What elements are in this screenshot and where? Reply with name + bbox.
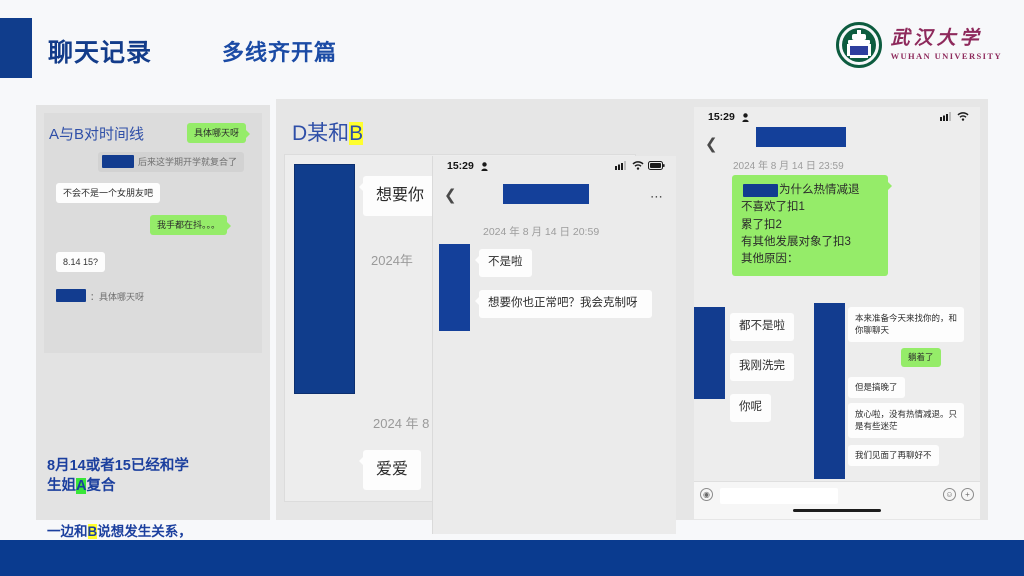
- redaction-block: [694, 307, 725, 399]
- page-title: 聊天记录: [48, 33, 152, 69]
- redaction-block: [439, 244, 470, 331]
- person-icon: [481, 162, 488, 171]
- green-msg-line-4: 有其他发展对象了扣3: [741, 236, 851, 248]
- emoji-icon[interactable]: ☺: [943, 488, 956, 501]
- chat-timestamp: 2024年: [371, 250, 413, 269]
- voice-record-icon[interactable]: ◉: [700, 488, 713, 501]
- message-text: 后来这学期开学就复合了: [138, 157, 237, 167]
- wifi-icon: [957, 112, 969, 121]
- status-time: 15:29: [708, 111, 735, 123]
- chat-input-bar: ◉ ☺ +: [694, 481, 980, 519]
- header-accent-mark: [0, 18, 32, 78]
- message-bubble: 8.14 15?: [56, 252, 105, 272]
- note-line-2-pre: 生姐: [47, 478, 76, 494]
- right-panel: D某和B 想要你 2024年 2024 年 8 月 14 日 20:15 爱爱 …: [276, 99, 988, 520]
- redaction-block: [56, 289, 86, 302]
- note-line-1: 8月14或者15已经和学: [47, 458, 189, 474]
- status-icons: [615, 161, 665, 170]
- green-msg-line-5: 其他原因：: [741, 253, 799, 265]
- footer-bar: [0, 540, 1024, 576]
- highlight-B-1: B: [88, 524, 98, 539]
- redaction-block: [294, 164, 355, 394]
- message-bubble: 我刚洗完: [730, 353, 794, 381]
- highlight-A: A: [76, 478, 86, 494]
- message-bubble: 想要你: [363, 176, 437, 216]
- redaction-block: [503, 184, 589, 204]
- message-bubble: 具体哪天呀: [187, 123, 246, 143]
- message-bubble: 不是啦: [479, 249, 532, 277]
- chat-timestamp: 2024 年 8 月 14 日 20:59: [483, 224, 599, 239]
- status-bar: 15:29: [433, 156, 676, 178]
- home-indicator: [793, 509, 881, 512]
- note2-l1-pre: 一边和: [47, 524, 88, 539]
- logo-name-cn: 武汉大学: [891, 29, 983, 49]
- message-bubble: 我们见面了再聊好不: [848, 445, 939, 466]
- right-panel-title: D某和B: [292, 117, 363, 147]
- green-msg-line-3: 累了扣2: [741, 219, 782, 231]
- redaction-block: [756, 127, 846, 147]
- highlight-B-title: B: [349, 122, 363, 145]
- logo-name-en: WUHAN UNIVERSITY: [891, 51, 1002, 61]
- slide-root: 聊天记录 多线齐开篇 武汉大学 WUHAN UNIVERSITY A与B对时间线…: [0, 0, 1024, 576]
- note-line-2-post: 复合: [86, 478, 115, 494]
- message-bubble: 爱爱: [363, 450, 421, 490]
- left-panel: A与B对时间线 具体哪天呀 后来这学期开学就复合了 不会不是一个女朋友吧 我手都…: [36, 105, 270, 520]
- person-icon: [742, 113, 749, 122]
- message-bubble: 本来准备今天来找你的，和你聊聊天: [848, 307, 964, 342]
- status-time: 15:29: [447, 160, 474, 172]
- more-options-icon[interactable]: ⋯: [650, 189, 664, 205]
- plus-icon[interactable]: +: [961, 488, 974, 501]
- phone-screenshot-b: 15:29: [432, 156, 676, 534]
- message-bubble: 你呢: [730, 394, 771, 422]
- message-bubble: 不会不是一个女朋友吧: [56, 183, 160, 203]
- battery-icon: [648, 161, 665, 170]
- right-title-pre: D某和: [292, 122, 349, 145]
- logo-wordmark: 武汉大学 WUHAN UNIVERSITY: [891, 29, 1002, 61]
- left-panel-title: A与B对时间线: [49, 123, 144, 144]
- message-bubble: 后来这学期开学就复合了: [98, 152, 244, 172]
- message-bubble: 想要你也正常吧？我会克制呀: [479, 290, 652, 318]
- message-bubble: 但是搞晚了: [848, 377, 905, 398]
- message-bubble: 我手都在抖。。。: [150, 215, 227, 235]
- signal-icon: [615, 161, 628, 170]
- redaction-block: [102, 155, 134, 168]
- redaction-block: [814, 303, 845, 479]
- message-bubble: 为什么热情减退 不喜欢了扣1 累了扣2 有其他发展对象了扣3 其他原因：: [732, 175, 888, 276]
- university-logo: 武汉大学 WUHAN UNIVERSITY: [836, 22, 1002, 68]
- page-subtitle: 多线齐开篇: [222, 35, 337, 67]
- chat-timestamp: 2024 年 8 月 14 日 23:59: [733, 157, 844, 172]
- message-bubble: 躺着了: [901, 348, 941, 367]
- note2-l1-post: 说想发生关系，: [97, 524, 192, 539]
- message-bubble: 都不是啦: [730, 313, 794, 341]
- status-bar: 15:29: [694, 107, 980, 129]
- signal-icon: [940, 112, 953, 121]
- back-button[interactable]: ❮: [444, 186, 457, 204]
- message-text: ：具体哪天呀: [90, 292, 144, 302]
- message-bubble: ：具体哪天呀: [54, 287, 151, 307]
- status-icons: [940, 112, 969, 121]
- wifi-icon: [632, 161, 644, 170]
- back-button[interactable]: ❮: [705, 135, 718, 153]
- phone-screenshot-c: 15:29 ❮: [694, 107, 980, 519]
- wuhan-university-seal-icon: [836, 22, 882, 68]
- message-input[interactable]: [720, 488, 838, 504]
- message-bubble: 放心啦，没有热情减退。只是有些迷茫: [848, 403, 964, 438]
- annotation-note-1: 8月14或者15已经和学 生姐A复合: [47, 457, 259, 496]
- redaction-block: [743, 184, 778, 197]
- green-msg-line-2: 不喜欢了扣1: [741, 201, 805, 213]
